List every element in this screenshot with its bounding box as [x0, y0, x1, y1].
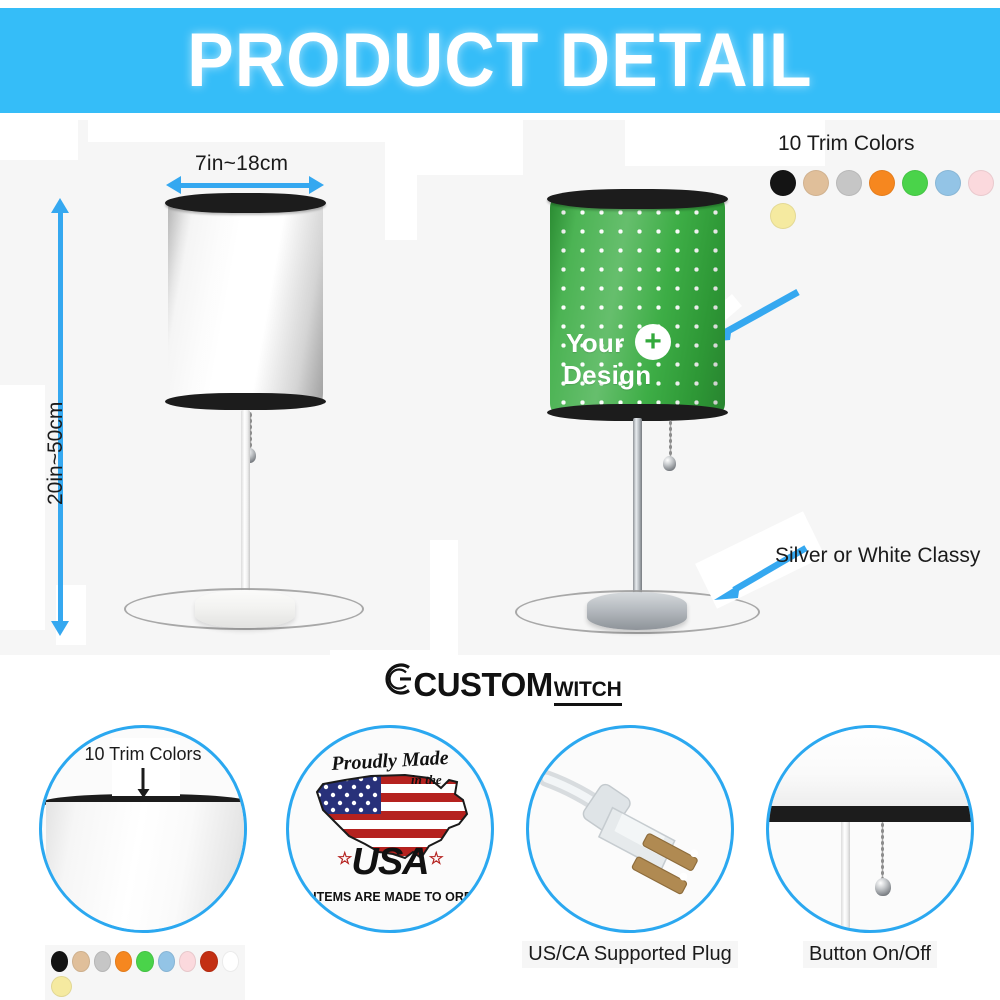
trim-color-swatch-strip[interactable]	[45, 945, 245, 1000]
swatch-orange[interactable]	[115, 951, 132, 972]
logo-c-icon	[378, 662, 412, 696]
swatch-orange[interactable]	[869, 170, 895, 196]
lampshade-gloss	[168, 202, 323, 402]
lamp-pole	[841, 822, 850, 933]
usa-badge-main-text: ☆USA☆	[337, 841, 443, 884]
swatch-light-blue[interactable]	[158, 951, 175, 972]
header-banner: PRODUCT DETAIL	[0, 8, 1000, 113]
feature-plug: US/CA Supported Plug	[505, 713, 755, 1000]
trim-ring	[766, 806, 974, 822]
page-title: PRODUCT DETAIL	[187, 17, 812, 104]
feature-trim-colors: 10 Trim Colors	[18, 713, 268, 1000]
star-icon-right: ☆	[429, 849, 443, 868]
swatch-strip-row-2[interactable]	[51, 976, 239, 997]
swatch-black[interactable]	[51, 951, 68, 972]
shade-surface	[46, 802, 246, 933]
usa-badge-circle: Proudly Made in the ☆USA☆ ALL ITEMS ARE …	[286, 725, 494, 933]
switch-caption: Button On/Off	[745, 941, 995, 968]
usa-badge-footer-text: ALL ITEMS ARE MADE TO ORDER!	[286, 890, 494, 904]
lampshade-white	[168, 202, 323, 402]
logo-main-text: CUSTOM	[413, 666, 552, 704]
star-icon-left: ☆	[337, 849, 351, 868]
plus-badge-icon: +	[635, 324, 671, 360]
logo-sub-text: WITCH	[554, 678, 622, 706]
switch-photo-circle	[766, 725, 974, 933]
trim-colors-inner-label: 10 Trim Colors	[84, 744, 201, 765]
swatch-white[interactable]	[222, 951, 239, 972]
pull-chain-ball[interactable]	[663, 456, 676, 471]
lamp-pole-silver	[633, 418, 642, 618]
swatch-brick-red[interactable]	[200, 951, 217, 972]
usa-badge: Proudly Made in the ☆USA☆ ALL ITEMS ARE …	[289, 728, 491, 930]
lampshade-top-trim	[165, 193, 326, 213]
swatch-pink[interactable]	[179, 951, 196, 972]
lampshade-green: Your + Design	[550, 198, 725, 413]
power-plug-icon	[529, 728, 731, 930]
main-stage: 10 Trim Colors 7in~18cm 20in~50cm	[0, 120, 1000, 710]
lamp-pole-white	[241, 410, 250, 615]
plug-caption: US/CA Supported Plug	[505, 941, 755, 968]
plug-photo-circle	[526, 725, 734, 933]
swatch-gray[interactable]	[94, 951, 111, 972]
usa-badge-inthe-text: in the	[411, 772, 442, 788]
lamp-base-white	[195, 590, 295, 628]
swatch-yellow[interactable]	[51, 976, 72, 997]
pull-chain[interactable]	[881, 822, 884, 880]
swatch-light-blue[interactable]	[935, 170, 961, 196]
lampshade-surface: Your + Design	[550, 198, 725, 413]
lampshade-bottom-trim	[165, 393, 326, 410]
swatch-pink[interactable]	[968, 170, 994, 196]
pull-chain-ball[interactable]	[875, 878, 891, 896]
swatch-green[interactable]	[136, 951, 153, 972]
trim-pointer-arrow	[142, 768, 145, 790]
your-design-line2: Design	[563, 360, 651, 390]
product-detail-page: PRODUCT DETAIL 10 Trim Colors	[0, 0, 1000, 1000]
feature-made-in-usa: Proudly Made in the ☆USA☆ ALL ITEMS ARE …	[265, 713, 515, 1000]
brand-logo: CUSTOM WITCH	[378, 662, 621, 706]
lampshade-top-trim	[547, 189, 728, 209]
pull-chain[interactable]	[669, 420, 672, 458]
trim-colors-photo-circle: 10 Trim Colors	[39, 725, 247, 933]
base-finish-label: Silver or White Classy	[775, 544, 980, 568]
feature-panels: 10 Trim Colors	[0, 713, 1000, 1000]
feature-switch: Button On/Off	[745, 713, 995, 1000]
swatch-strip-row-1[interactable]	[51, 951, 239, 972]
lamp-base-silver	[587, 592, 687, 630]
your-design-line1: Your	[566, 328, 625, 358]
shade-surface	[766, 725, 974, 808]
swatch-green[interactable]	[902, 170, 928, 196]
lamp-white-blank	[0, 120, 420, 660]
brand-logo-band: CUSTOM WITCH	[0, 655, 1000, 713]
swatch-tan[interactable]	[72, 951, 89, 972]
